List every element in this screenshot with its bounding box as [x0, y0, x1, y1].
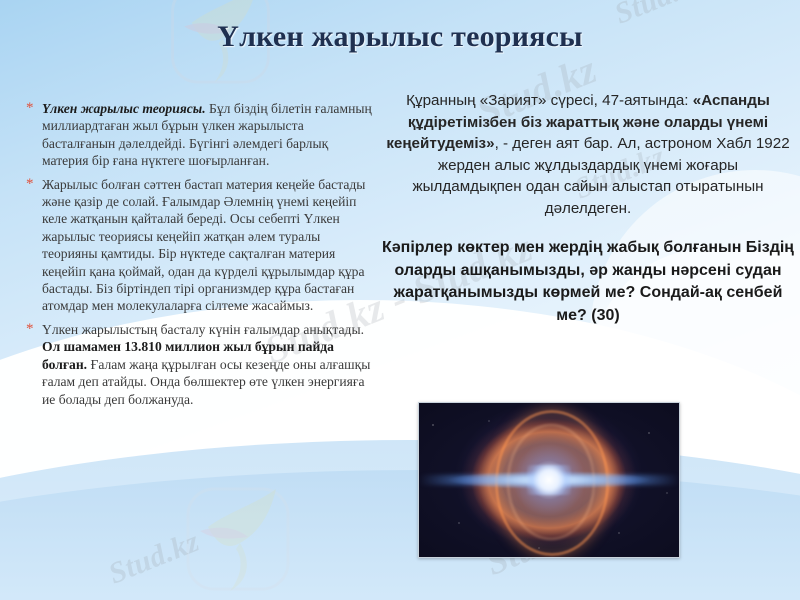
- asterisk-bullet-icon: *: [26, 100, 42, 117]
- asterisk-bullet-icon: *: [26, 321, 42, 338]
- bullet-paragraph: Үлкен жарылыс теориясы. Бұл біздің білет…: [42, 100, 376, 170]
- blue-band-decoration: [0, 440, 800, 600]
- blue-band-decoration-2: [0, 470, 800, 600]
- quran-intro-text: Құранның «Зарият» сүресі, 47-аятында:: [406, 92, 693, 109]
- bullet-body-text: Үлкен жарылыстың басталу күнін ғалымдар …: [42, 322, 364, 337]
- verse-paragraph: Кәпірлер көктер мен жердің жабық болғаны…: [382, 237, 794, 327]
- bullet-item: * Үлкен жарылыс теориясы. Бұл біздің біл…: [26, 100, 376, 170]
- supernova-image: [418, 402, 680, 558]
- watermark-text: Stud.kz: [104, 525, 204, 592]
- bullet-item: * Үлкен жарылыстың басталу күнін ғалымда…: [26, 321, 376, 408]
- quran-reference-paragraph: Құранның «Зарият» сүресі, 47-аятында: «А…: [382, 90, 794, 219]
- left-text-column: * Үлкен жарылыс теориясы. Бұл біздің біл…: [26, 100, 376, 414]
- slide-canvas: Stud.kz Stud.kz - Stud.kz Stud.kz Stud.k…: [0, 0, 800, 600]
- slide-title: Үлкен жарылыс теориясы: [0, 20, 800, 54]
- explosion-core: [527, 465, 571, 495]
- bullet-paragraph: Жарылыс болған сәттен бастап материя кең…: [42, 176, 376, 315]
- supernova-image-content: [419, 403, 679, 557]
- bullet-item: * Жарылыс болған сәттен бастап материя к…: [26, 176, 376, 315]
- bullet-paragraph: Үлкен жарылыстың басталу күнін ғалымдар …: [42, 321, 376, 408]
- bird-logo-decoration-bottom: [178, 480, 298, 600]
- bullet-lead-text: Үлкен жарылыс теориясы.: [42, 101, 206, 116]
- right-text-column: Құранның «Зарият» сүресі, 47-аятында: «А…: [382, 90, 794, 327]
- asterisk-bullet-icon: *: [26, 176, 42, 193]
- bullet-tail-text: Ғалам жаңа құрылған осы кезеңде оны алға…: [42, 357, 370, 407]
